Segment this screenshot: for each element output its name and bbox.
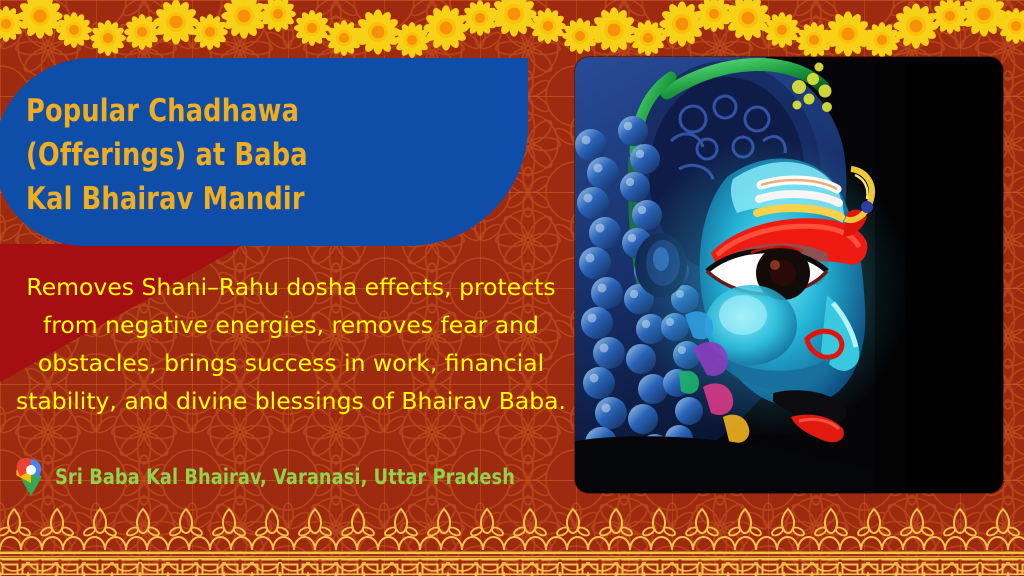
kal-bhairav-idol-photo (575, 57, 1003, 493)
headline-panel: Popular Chadhawa (Offerings) at Baba Kal… (0, 58, 528, 246)
location-label: Sri Baba Kal Bhairav, Varanasi, Uttar Pr… (55, 465, 515, 489)
page-title: Popular Chadhawa (Offerings) at Baba Kal… (26, 89, 438, 221)
map-pin-icon (16, 458, 46, 496)
ornamental-border (0, 502, 1024, 576)
location-line: Sri Baba Kal Bhairav, Varanasi, Uttar Pr… (16, 458, 544, 496)
description-text: Removes Shani–Rahu dosha effects, protec… (6, 268, 576, 420)
poster-canvas: Popular Chadhawa (Offerings) at Baba Kal… (0, 0, 1024, 576)
marigold-garland (0, 0, 1024, 62)
